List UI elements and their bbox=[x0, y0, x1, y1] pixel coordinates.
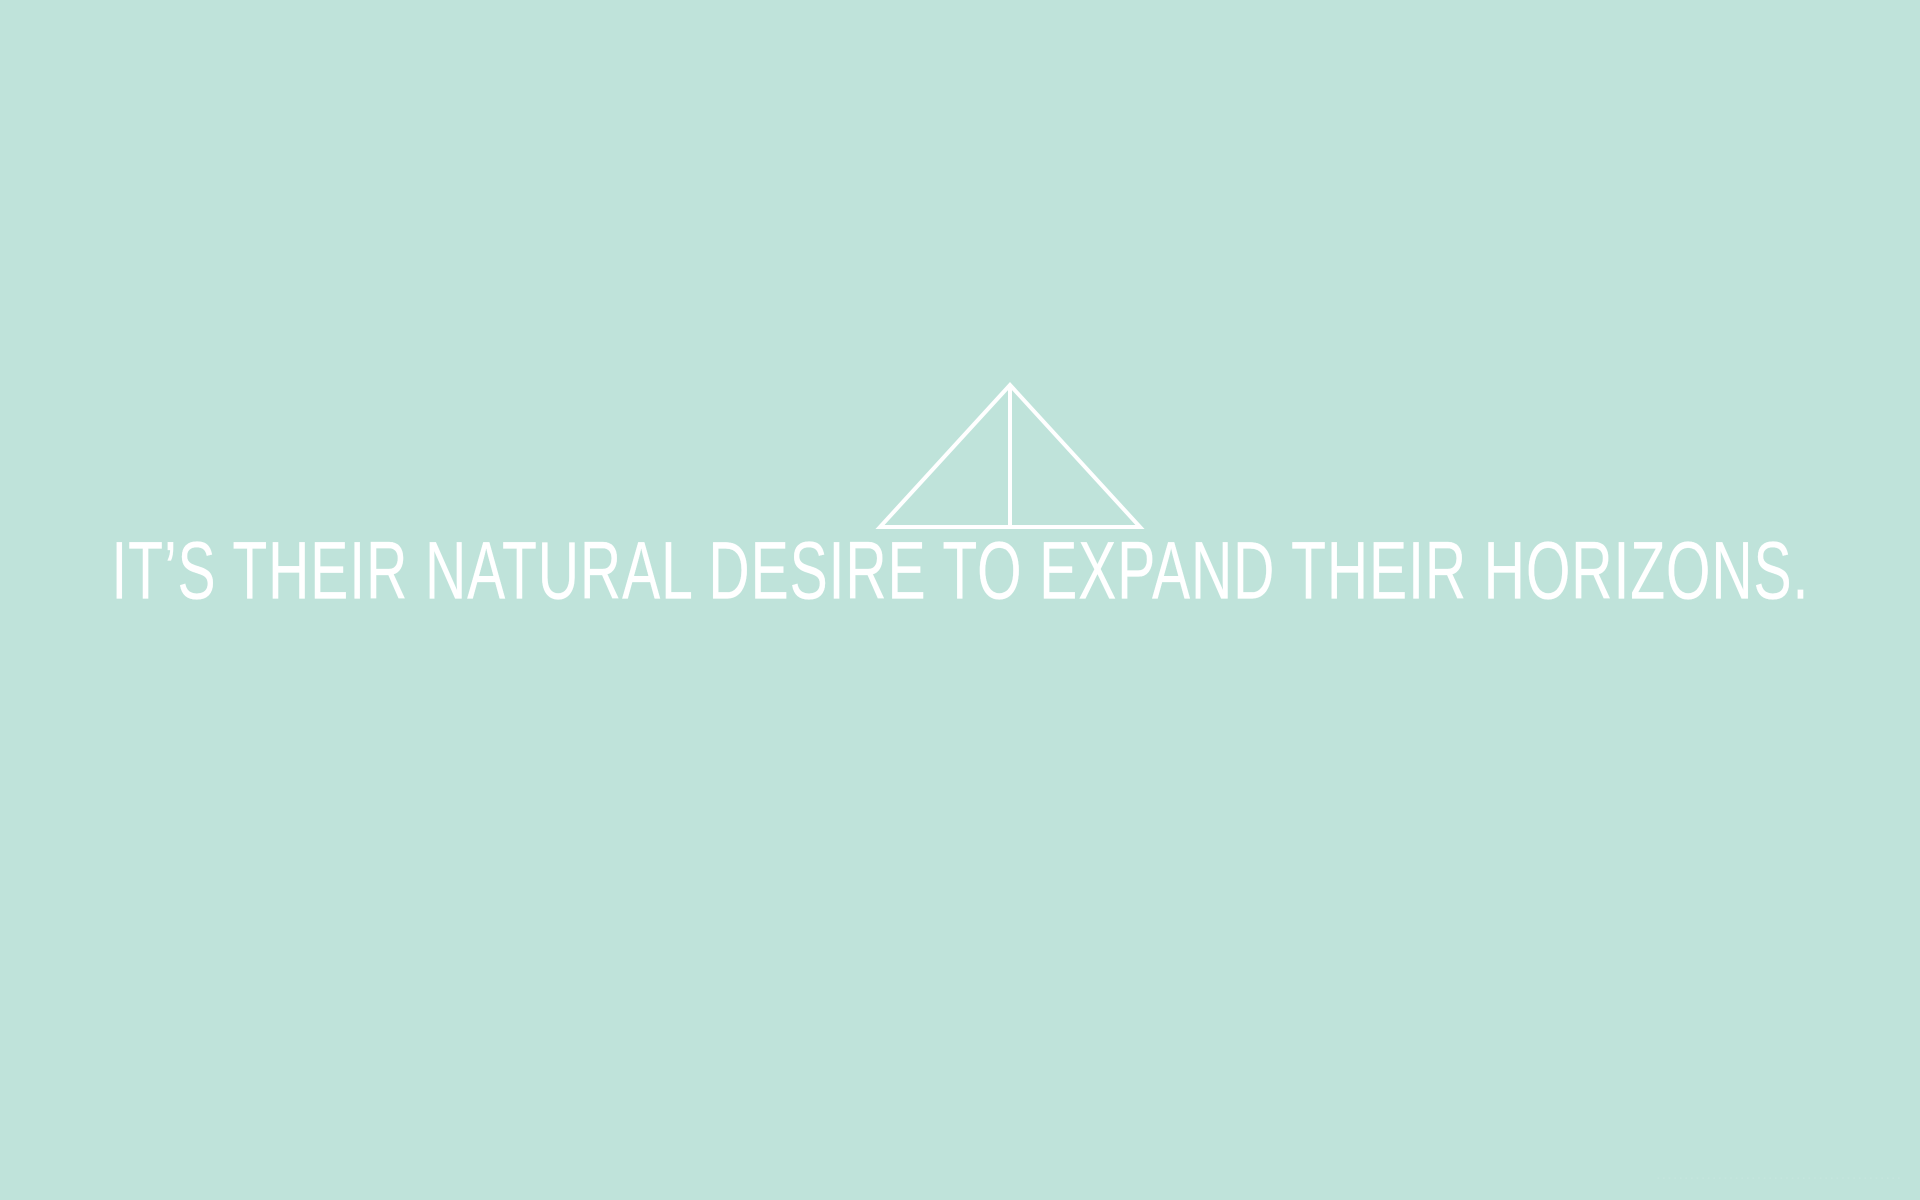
triangle-emblem bbox=[862, 370, 1158, 542]
wallpaper-canvas: IT’S THEIR NATURAL DESIRE TO EXPAND THEI… bbox=[0, 0, 1920, 1200]
triangle-emblem-svg bbox=[862, 370, 1158, 542]
quote-text: IT’S THEIR NATURAL DESIRE TO EXPAND THEI… bbox=[111, 530, 1809, 611]
quote-container: IT’S THEIR NATURAL DESIRE TO EXPAND THEI… bbox=[0, 523, 1920, 619]
corner-watermark: ········································… bbox=[1656, 1169, 1902, 1186]
triangle-outline-path bbox=[880, 385, 1140, 527]
